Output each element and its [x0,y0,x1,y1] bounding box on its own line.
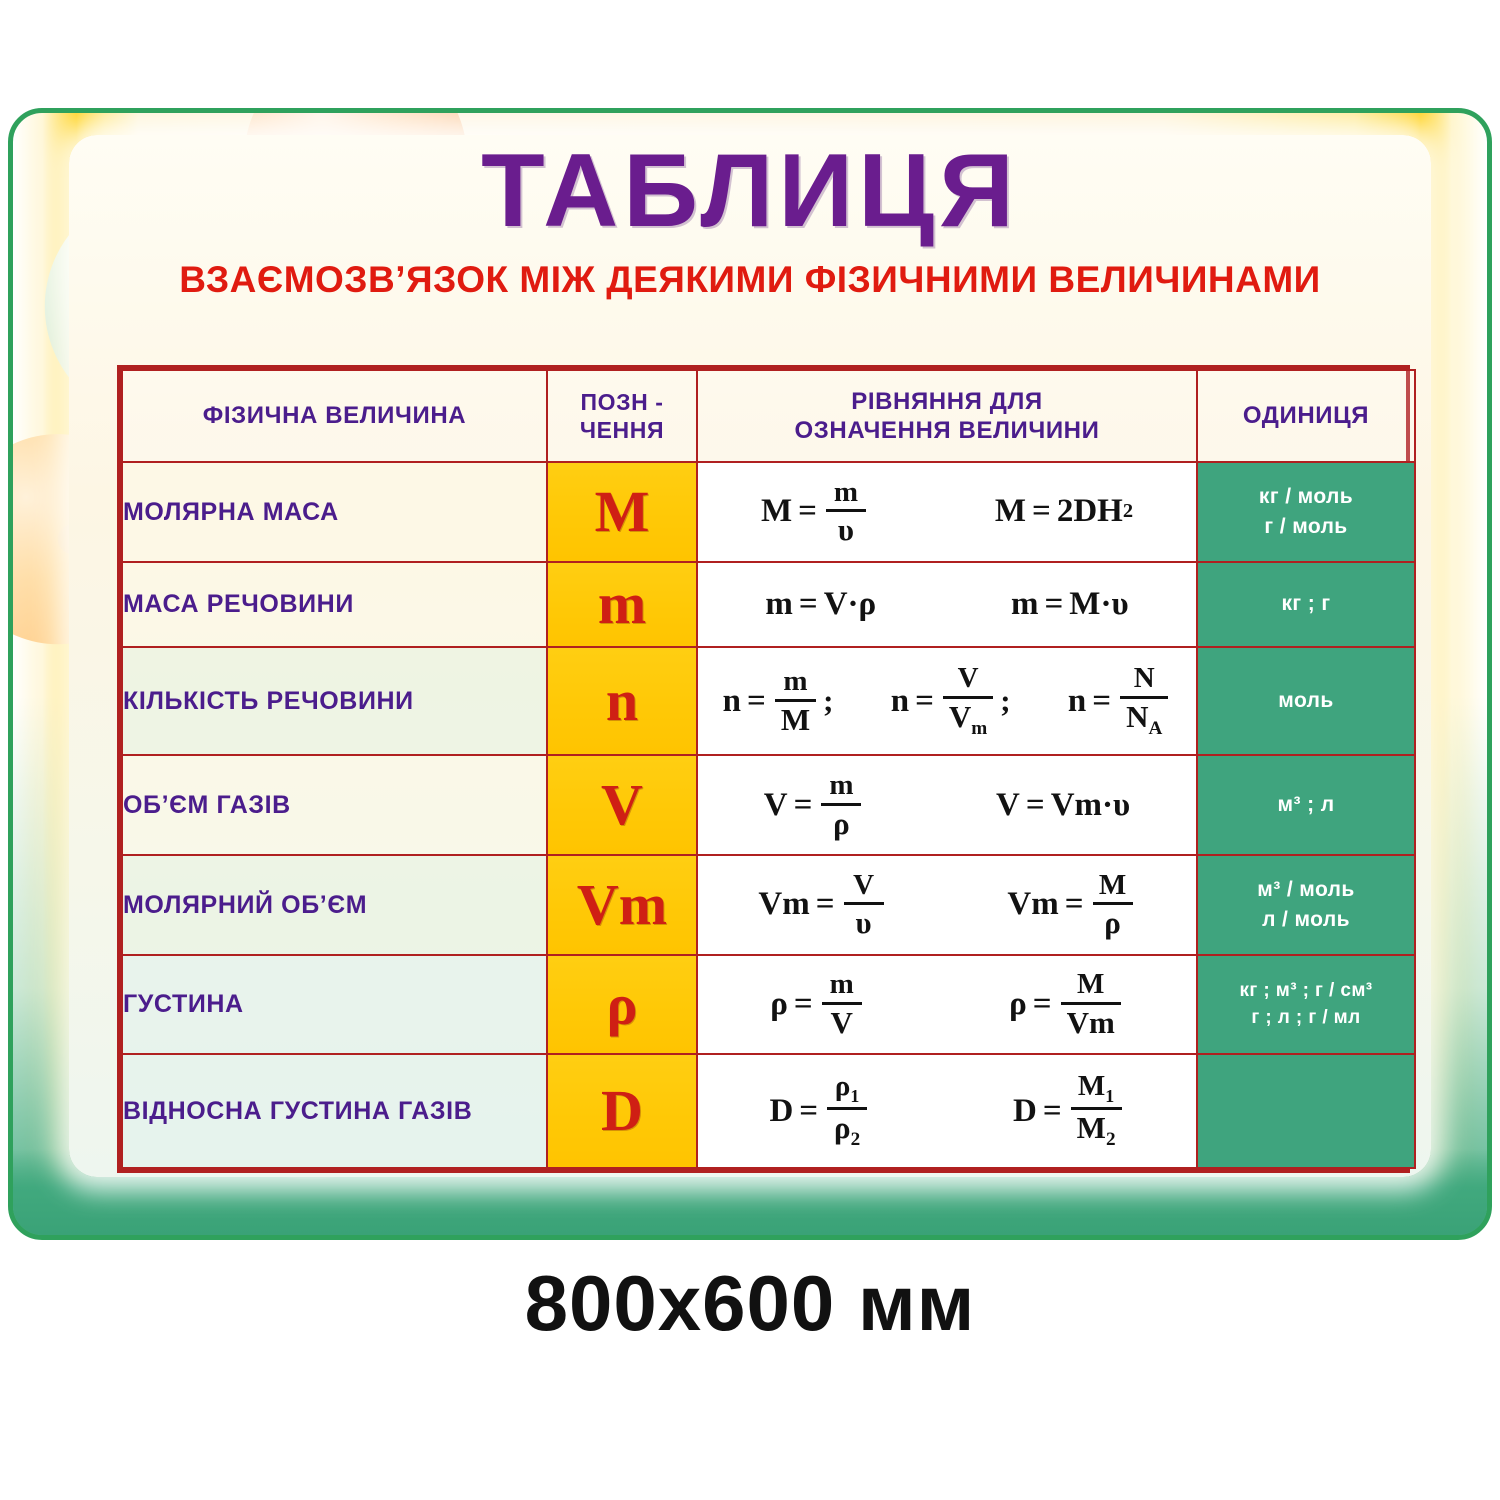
page-title: ТАБЛИЦЯ [13,139,1487,243]
row-symbol-cell: Vm [547,855,697,955]
row-name-cell: ГУСТИНА [122,955,547,1055]
denominator: Vm [943,701,993,739]
row-symbol-cell: D [547,1054,697,1168]
eq-lhs: n [723,683,741,720]
numerator: M [1071,970,1110,1000]
row-symbol-cell: M [547,462,697,562]
header-label-symbol-line1: ПОЗН - [548,388,696,416]
numerator: m [828,478,864,508]
row-equation-cell: ρ = m V ρ = M [697,955,1197,1055]
numerator: m [777,667,813,697]
quantity-name: КІЛЬКІСТЬ РЕЧОВИНИ [123,685,546,718]
eq-operator: = [799,586,818,623]
equation-2: V = Vm · υ [996,787,1130,824]
eq-operator: = [1033,986,1052,1023]
eq-separator: ; [823,683,833,719]
header-label-equation-line1: РІВНЯННЯ ДЛЯ [698,387,1196,416]
den-subscript: 2 [1106,1130,1116,1151]
eq-operator: = [1026,787,1045,824]
denominator: M [775,704,816,736]
unit-line-1: кг / моль [1198,482,1414,512]
row-name-cell: МОЛЯРНИЙ ОБ’ЄМ [122,855,547,955]
eq-operator: = [1043,1093,1062,1130]
row-unit-cell: м³ / моль л / моль [1197,855,1415,955]
num-base: ρ [835,1070,851,1102]
row-name-cell: КІЛЬКІСТЬ РЕЧОВИНИ [122,647,547,755]
fraction: m υ [826,478,866,546]
equation-1: V = m ρ [764,771,865,839]
table-row: ОБ’ЄМ ГАЗІВ V V = m ρ [122,755,1415,855]
header-label-equation-line2: ОЗНАЧЕННЯ ВЕЛИЧИНИ [698,416,1196,445]
row-symbol-cell: V [547,755,697,855]
fraction: m ρ [821,771,861,839]
eq-lhs: m [1011,586,1039,623]
equation-1: Vm = V υ [758,871,886,939]
quantity-symbol: Vm [548,876,696,934]
denominator: M2 [1071,1112,1122,1150]
quantity-name: ГУСТИНА [123,988,546,1021]
equation-1: ρ = m V [770,970,864,1038]
unit-line-2: л / моль [1198,905,1414,935]
equation-1: M = m υ [761,478,869,546]
eq-operator: = [915,683,934,720]
quantity-symbol: V [548,776,696,834]
header-cell-equation: РІВНЯННЯ ДЛЯ ОЗНАЧЕННЯ ВЕЛИЧИНИ [697,370,1197,462]
numerator: M1 [1072,1072,1120,1105]
denominator: Vm [1061,1007,1121,1039]
den-base: V [949,699,971,734]
eq-rhs-a: V [824,586,848,623]
eq-dot: · [1100,586,1111,623]
equation-2: Vm = M ρ [1007,871,1135,939]
row-equation-cell: M = m υ M = 2DH2 [697,462,1197,562]
row-symbol-cell: ρ [547,955,697,1055]
eq-operator: = [1044,586,1063,623]
row-unit-cell: кг / моль г / моль [1197,462,1415,562]
eq-operator: = [1092,683,1111,720]
row-unit-cell: моль [1197,647,1415,755]
row-equation-cell: Vm = V υ Vm = M [697,855,1197,955]
num-base: M [1078,1070,1105,1102]
den-base: ρ [834,1110,851,1145]
unit-line-1: моль [1198,686,1414,716]
quantity-symbol: M [548,483,696,541]
quantity-name: ОБ’ЄМ ГАЗІВ [123,789,546,822]
numerator: N [1128,664,1161,694]
quantity-symbol: ρ [548,976,696,1034]
eq-dot: · [1102,787,1113,824]
quantity-name: МОЛЯРНА МАСА [123,496,546,529]
den-subscript: 2 [851,1130,861,1151]
eq-rhs-a: M [1069,586,1100,623]
quantity-symbol: n [548,672,696,730]
eq-lhs: V [996,787,1020,824]
eq-lhs: n [1068,683,1086,720]
eq-operator: = [799,1093,818,1130]
fraction: V Vm [943,664,993,738]
row-unit-cell: кг ; м³ ; г / см³ г ; л ; г / мл [1197,955,1415,1055]
unit-line-1: кг ; м³ ; г / см³ [1198,978,1414,1005]
equation-2: m = M · υ [1011,586,1129,623]
numerator: ρ1 [829,1072,866,1105]
denominator: υ [850,907,878,939]
row-equation-cell: n = m M ; n = [697,647,1197,755]
equation-1: m = V · ρ [765,586,876,623]
eq-lhs: D [769,1093,793,1130]
table-row: КІЛЬКІСТЬ РЕЧОВИНИ n n = m M [122,647,1415,755]
equation-2: M = 2DH2 [995,493,1133,530]
title-block: ТАБЛИЦЯ ВЗАЄМОЗВ’ЯЗОК МІЖ ДЕЯКИМИ ФІЗИЧН… [13,139,1487,301]
equation-2: D = M1 M2 [1013,1072,1125,1150]
table-row: МАСА РЕЧОВИНИ m m = V · ρ [122,562,1415,647]
header-cell-symbol: ПОЗН - ЧЕННЯ [547,370,697,462]
unit-line-2: г ; л ; г / мл [1198,1005,1414,1032]
eq-rhs-b: υ [1111,586,1128,623]
eq-rhs-a: Vm [1051,787,1102,824]
eq-rhs-b: υ [1113,787,1130,824]
eq-dot: · [848,586,859,623]
page-subtitle: ВЗАЄМОЗВ’ЯЗОК МІЖ ДЕЯКИМИ ФІЗИЧНИМИ ВЕЛИ… [13,259,1487,301]
numerator: m [824,970,860,1000]
row-symbol-cell: n [547,647,697,755]
den-subscript: A [1148,718,1162,739]
denominator: ρ [827,808,856,840]
fraction: m V [822,970,862,1038]
header-cell-name: ФІЗИЧНА ВЕЛИЧИНА [122,370,547,462]
table-row: ВІДНОСНА ГУСТИНА ГАЗІВ D D = ρ1 ρ2 [122,1054,1415,1168]
row-unit-cell: кг ; г [1197,562,1415,647]
physical-quantities-table-wrap: ФІЗИЧНА ВЕЛИЧИНА ПОЗН - ЧЕННЯ РІВНЯННЯ Д… [117,365,1410,1173]
eq-operator: = [747,683,766,720]
eq-operator: = [794,986,813,1023]
quantity-name: МОЛЯРНИЙ ОБ’ЄМ [123,889,546,922]
eq-lhs: m [765,586,793,623]
eq-lhs: ρ [1009,986,1027,1023]
row-equation-cell: m = V · ρ m = M · υ [697,562,1197,647]
numerator: m [823,771,859,801]
fraction: m M [775,667,816,735]
eq-lhs: V [764,787,788,824]
eq-lhs: n [891,683,909,720]
eq-lhs: Vm [758,886,809,923]
eq-operator: = [798,493,817,530]
unit-line-1: м³ / моль [1198,875,1414,905]
num-subscript: 1 [850,1086,859,1106]
eq-separator: ; [1000,683,1010,719]
row-unit-cell: м³ ; л [1197,755,1415,855]
equation-2: n = V Vm ; [891,664,1019,738]
equation-2: ρ = M Vm [1009,970,1124,1038]
numerator: M [1093,871,1132,901]
eq-lhs: M [761,493,792,530]
eq-lhs: M [995,493,1026,530]
quantity-name: МАСА РЕЧОВИНИ [123,588,546,621]
denominator: V [824,1007,858,1039]
row-name-cell: МОЛЯРНА МАСА [122,462,547,562]
den-base: N [1126,699,1148,734]
eq-lhs: Vm [1007,886,1058,923]
table-row: МОЛЯРНИЙ ОБ’ЄМ Vm Vm = V υ [122,855,1415,955]
equation-3: n = N NA [1068,664,1171,738]
eq-rhs: 2DH [1057,493,1123,530]
row-name-cell: МАСА РЕЧОВИНИ [122,562,547,647]
num-subscript: 1 [1105,1086,1114,1106]
physical-quantities-table: ФІЗИЧНА ВЕЛИЧИНА ПОЗН - ЧЕННЯ РІВНЯННЯ Д… [121,369,1416,1169]
eq-operator: = [794,787,813,824]
denominator: υ [832,514,860,546]
eq-operator: = [1032,493,1051,530]
eq-operator: = [816,886,835,923]
row-name-cell: ВІДНОСНА ГУСТИНА ГАЗІВ [122,1054,547,1168]
fraction: N NA [1120,664,1168,738]
table-row: МОЛЯРНА МАСА M M = m υ [122,462,1415,562]
row-symbol-cell: m [547,562,697,647]
row-equation-cell: V = m ρ V = Vm · [697,755,1197,855]
row-equation-cell: D = ρ1 ρ2 D = M1 [697,1054,1197,1168]
den-base: M [1077,1110,1106,1145]
eq-operator: = [1065,886,1084,923]
row-name-cell: ОБ’ЄМ ГАЗІВ [122,755,547,855]
den-subscript: m [971,718,987,739]
denominator: ρ [1098,907,1127,939]
eq-lhs: D [1013,1093,1037,1130]
eq-rhs-b: ρ [859,586,877,623]
unit-line-1: кг ; г [1198,589,1414,619]
equation-1: n = m M ; [723,667,842,735]
fraction: ρ1 ρ2 [827,1072,867,1150]
eq-subscript: 2 [1123,500,1133,523]
fraction: M ρ [1093,871,1133,939]
unit-line-1: м³ ; л [1198,790,1414,820]
quantity-symbol: m [548,575,696,633]
header-label-symbol-line2: ЧЕННЯ [548,416,696,444]
poster-frame: ТАБЛИЦЯ ВЗАЄМОЗВ’ЯЗОК МІЖ ДЕЯКИМИ ФІЗИЧН… [8,108,1492,1240]
fraction: V υ [844,871,884,939]
numerator: V [952,664,985,694]
numerator: V [847,871,880,901]
quantity-name: ВІДНОСНА ГУСТИНА ГАЗІВ [123,1095,546,1128]
table-header-row: ФІЗИЧНА ВЕЛИЧИНА ПОЗН - ЧЕННЯ РІВНЯННЯ Д… [122,370,1415,462]
equation-1: D = ρ1 ρ2 [769,1072,870,1150]
header-label-name: ФІЗИЧНА ВЕЛИЧИНА [123,401,546,430]
denominator: NA [1120,701,1168,739]
table-row: ГУСТИНА ρ ρ = m V [122,955,1415,1055]
eq-lhs: ρ [770,986,788,1023]
size-caption: 800x600 мм [0,1258,1500,1349]
header-label-unit: ОДИНИЦЯ [1198,401,1414,430]
row-unit-cell [1197,1054,1415,1168]
header-cell-unit: ОДИНИЦЯ [1197,370,1415,462]
quantity-symbol: D [548,1082,696,1140]
fraction: M1 M2 [1071,1072,1122,1150]
unit-line-2: г / моль [1198,512,1414,542]
fraction: M Vm [1061,970,1121,1038]
denominator: ρ2 [828,1112,866,1150]
